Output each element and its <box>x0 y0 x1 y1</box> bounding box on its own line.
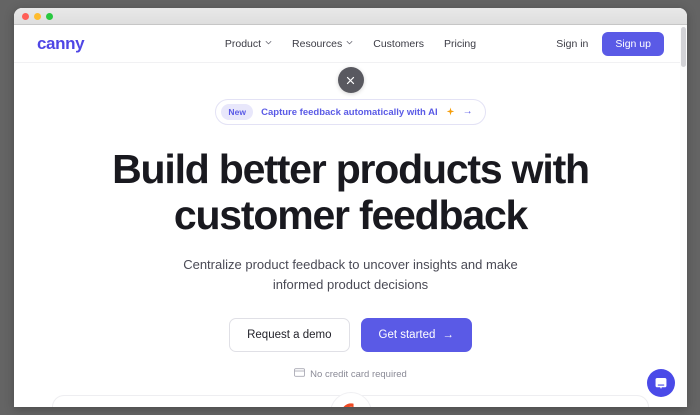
close-banner-button[interactable] <box>338 67 364 93</box>
subhead-line-1: Centralize product feedback to uncover i… <box>183 257 518 272</box>
site-navbar: canny Product Resources <box>14 25 687 63</box>
chat-widget-button[interactable] <box>647 369 675 397</box>
subhead-line-2: informed product decisions <box>273 277 428 292</box>
arrow-right-icon: → <box>463 107 473 117</box>
arrow-right-icon: → <box>442 329 454 341</box>
chevron-down-icon <box>265 39 272 46</box>
g2-icon <box>339 401 363 407</box>
nav-item-product-label: Product <box>225 38 261 50</box>
chevron-down-icon <box>346 39 353 46</box>
hero-subtitle: Centralize product feedback to uncover i… <box>14 255 687 295</box>
close-icon <box>346 76 355 85</box>
no-credit-card-note: No credit card required <box>14 368 687 380</box>
headline-line-2: customer feedback <box>174 192 527 238</box>
window-maximize-dot[interactable] <box>46 13 53 20</box>
sign-up-button[interactable]: Sign up <box>602 32 664 56</box>
nav-item-customers[interactable]: Customers <box>373 38 424 50</box>
badge-new-tag: New <box>221 104 253 120</box>
badge-text: Capture feedback automatically with AI <box>261 107 438 118</box>
nav-item-pricing-label: Pricing <box>444 38 476 50</box>
page-scrollbar[interactable] <box>680 25 687 407</box>
window-close-dot[interactable] <box>22 13 29 20</box>
no-credit-card-label: No credit card required <box>310 369 407 380</box>
window-minimize-dot[interactable] <box>34 13 41 20</box>
nav-actions: Sign in Sign up <box>556 32 664 56</box>
page-viewport: canny Product Resources <box>14 25 687 407</box>
nav-item-product[interactable]: Product <box>225 38 272 50</box>
nav-item-pricing[interactable]: Pricing <box>444 38 476 50</box>
request-demo-button[interactable]: Request a demo <box>229 318 349 352</box>
hero-section: New Capture feedback automatically with … <box>14 63 687 380</box>
headline-line-1: Build better products with <box>112 146 589 192</box>
canny-logo[interactable]: canny <box>37 34 84 54</box>
nav-item-resources-label: Resources <box>292 38 342 50</box>
cta-row: Request a demo Get started → <box>14 318 687 352</box>
sign-in-link[interactable]: Sign in <box>556 38 588 50</box>
nav-item-resources[interactable]: Resources <box>292 38 353 50</box>
browser-titlebar <box>14 8 687 25</box>
announcement-badge[interactable]: New Capture feedback automatically with … <box>215 99 485 125</box>
get-started-label: Get started <box>379 329 436 341</box>
page-title: Build better products with customer feed… <box>14 147 687 239</box>
nav-item-customers-label: Customers <box>373 38 424 50</box>
browser-window: canny Product Resources <box>14 8 687 407</box>
scrollbar-thumb[interactable] <box>681 27 686 67</box>
chat-bubble-icon <box>654 376 668 390</box>
get-started-button[interactable]: Get started → <box>361 318 472 352</box>
credit-card-icon <box>294 368 305 380</box>
desktop-background: canny Product Resources <box>0 0 700 415</box>
sparkle-icon <box>446 107 455 118</box>
